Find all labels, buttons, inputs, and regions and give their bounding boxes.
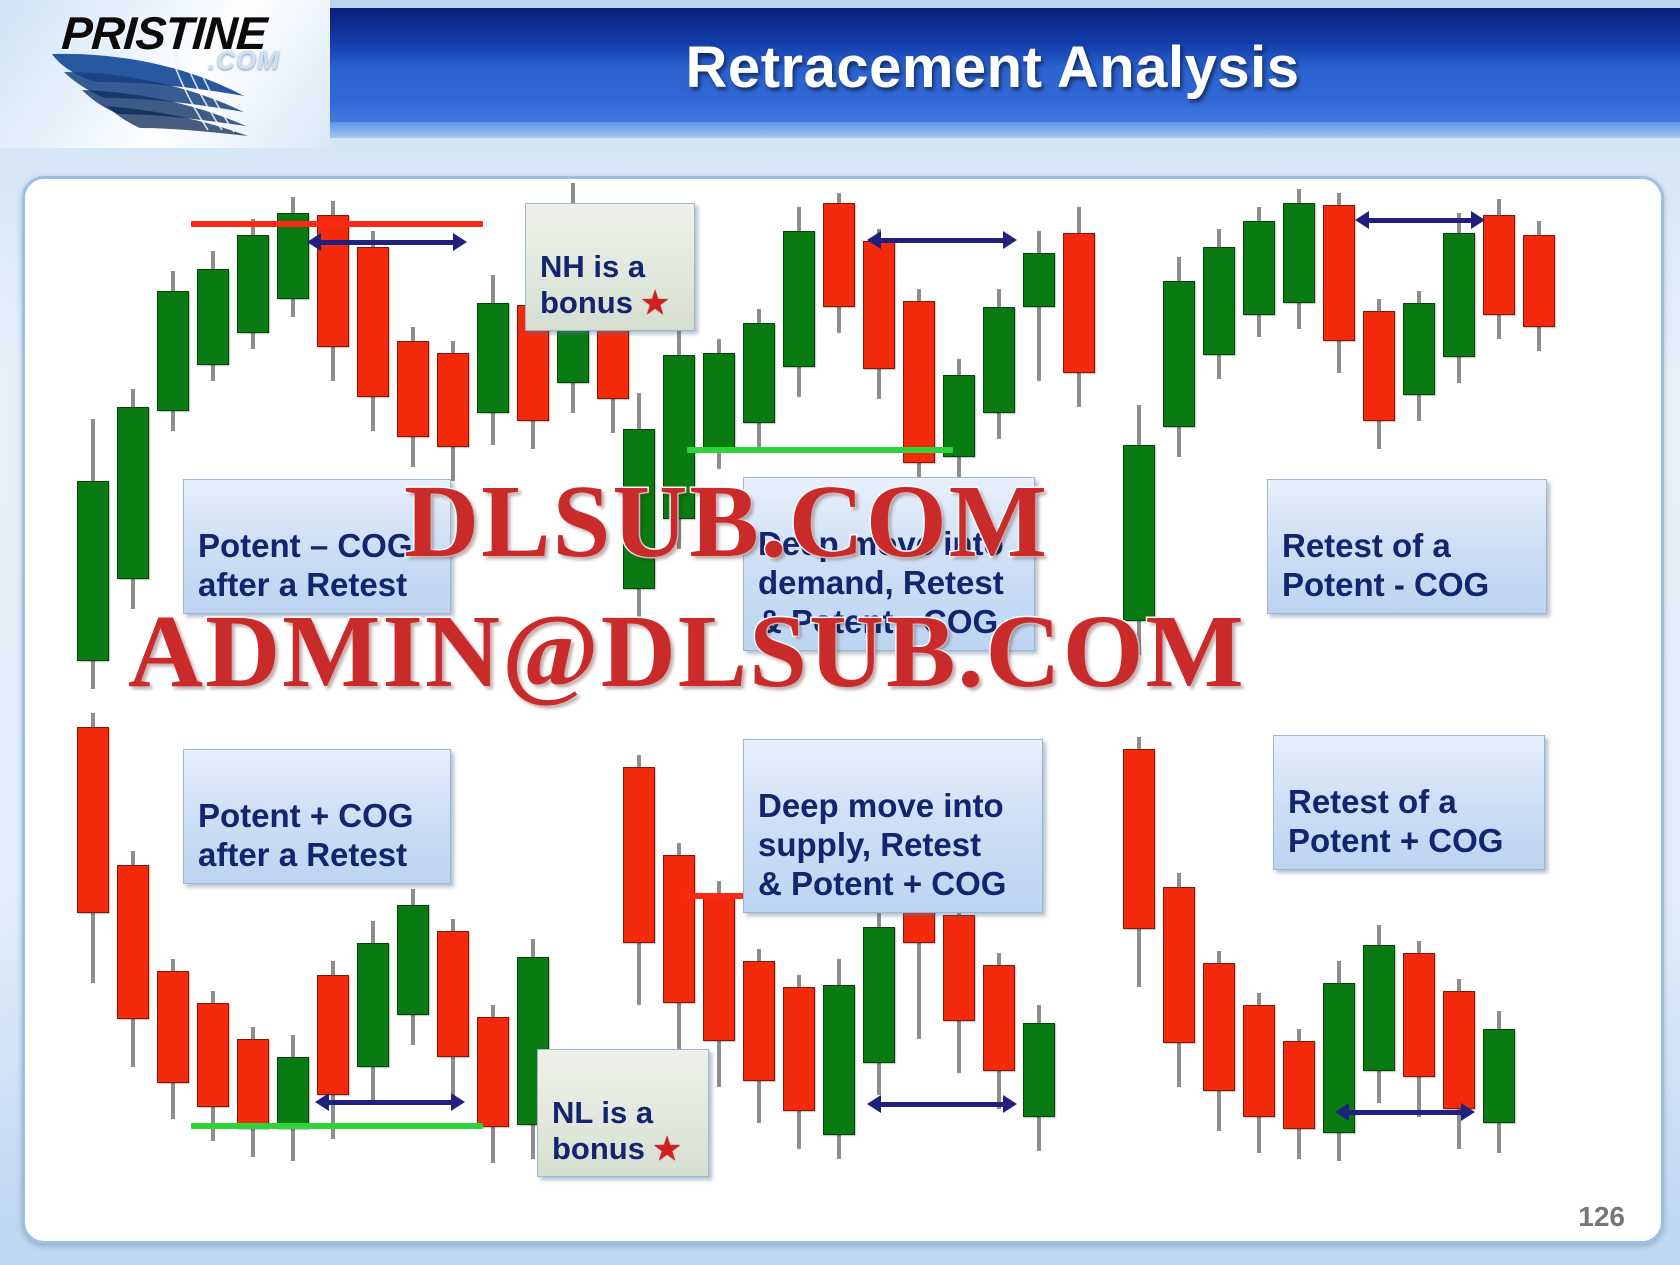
- retracement-arrow: [867, 231, 1017, 249]
- callout-nl-bonus: NL is a bonus ★: [537, 1049, 709, 1177]
- candle: [357, 231, 389, 431]
- page-number: 126: [1578, 1201, 1625, 1233]
- candle: [1023, 231, 1055, 381]
- callout-nh-bonus: NH is a bonus ★: [525, 203, 695, 331]
- candle: [743, 949, 775, 1123]
- candle: [357, 921, 389, 1101]
- retracement-arrow: [307, 233, 467, 251]
- candle: [1483, 199, 1515, 339]
- retracement-arrow: [867, 1095, 1017, 1113]
- candle: [397, 327, 429, 467]
- candle: [277, 1035, 309, 1161]
- candle: [823, 959, 855, 1159]
- callout-retest-potent-plus: Retest of a Potent + COG: [1273, 735, 1545, 870]
- slide: PRISTINE .COM Retracement Analysis: [0, 0, 1680, 1265]
- support-line: [191, 1123, 483, 1129]
- candle: [1403, 941, 1435, 1117]
- callout-text: Deep move into supply, Retest & Potent +…: [758, 787, 1006, 902]
- candle: [1283, 1029, 1315, 1159]
- candle: [1023, 1005, 1055, 1151]
- callout-deep-supply: Deep move into supply, Retest & Potent +…: [743, 739, 1043, 913]
- support-line: [687, 447, 953, 453]
- callout-text: Potent + COG after a Retest: [198, 797, 413, 873]
- retracement-arrow: [315, 1093, 465, 1111]
- candle: [1283, 189, 1315, 329]
- candle: [783, 975, 815, 1149]
- watermark-line-1: DLSUB.COM: [404, 462, 1049, 581]
- retracement-arrow: [1335, 1103, 1475, 1121]
- candle: [237, 219, 269, 349]
- candle: [1363, 925, 1395, 1103]
- callout-retest-potent-minus: Retest of a Potent - COG: [1267, 479, 1547, 614]
- candle: [1243, 993, 1275, 1153]
- candle: [237, 1027, 269, 1157]
- candle: [1323, 961, 1355, 1161]
- candle: [1123, 737, 1155, 987]
- star-icon: ★: [654, 1132, 681, 1167]
- slide-header: PRISTINE .COM Retracement Analysis: [0, 0, 1680, 148]
- candle: [823, 193, 855, 333]
- candle: [317, 961, 349, 1139]
- candle: [317, 201, 349, 381]
- candle: [663, 843, 695, 1049]
- candle: [623, 755, 655, 1005]
- resistance-line: [191, 221, 483, 227]
- candle: [863, 905, 895, 1095]
- candle: [863, 229, 895, 399]
- callout-text: Retest of a Potent + COG: [1288, 783, 1503, 859]
- candle: [397, 889, 429, 1045]
- callout-text: Retest of a Potent - COG: [1282, 527, 1489, 603]
- star-icon: ★: [642, 286, 669, 321]
- logo-area: PRISTINE .COM: [0, 0, 330, 148]
- candle: [77, 713, 109, 983]
- candle: [983, 289, 1015, 439]
- retracement-arrow: [1355, 211, 1485, 229]
- candle: [157, 959, 189, 1119]
- candle: [437, 919, 469, 1097]
- candle: [1483, 1011, 1515, 1153]
- candle: [1243, 207, 1275, 337]
- candle: [477, 275, 509, 445]
- candle: [783, 207, 815, 397]
- candle: [477, 1005, 509, 1163]
- candle: [1363, 299, 1395, 449]
- candle: [1443, 979, 1475, 1149]
- candle: [1203, 951, 1235, 1131]
- logo-domain-suffix: .COM: [208, 45, 280, 76]
- candle: [1063, 207, 1095, 407]
- candle: [1163, 257, 1195, 457]
- candle: [197, 991, 229, 1141]
- candle: [277, 197, 309, 317]
- page-title: Retracement Analysis: [305, 8, 1680, 126]
- candle: [1203, 229, 1235, 379]
- candle: [1443, 213, 1475, 383]
- candle: [1523, 221, 1555, 351]
- candle: [117, 851, 149, 1067]
- candle: [77, 419, 109, 689]
- candle: [743, 309, 775, 449]
- candle: [943, 903, 975, 1073]
- callout-potent-plus-cog: Potent + COG after a Retest: [183, 749, 451, 884]
- candle: [1403, 291, 1435, 421]
- callout-text: NL is a bonus: [552, 1095, 654, 1167]
- candle: [197, 251, 229, 381]
- candle: [983, 953, 1015, 1109]
- watermark-line-2: ADMIN@DLSUB.COM: [128, 592, 1246, 711]
- candle: [157, 271, 189, 431]
- candle: [1163, 873, 1195, 1087]
- candle: [437, 341, 469, 481]
- callout-text: NH is a bonus: [540, 249, 645, 321]
- candle: [117, 389, 149, 609]
- candle: [1323, 193, 1355, 373]
